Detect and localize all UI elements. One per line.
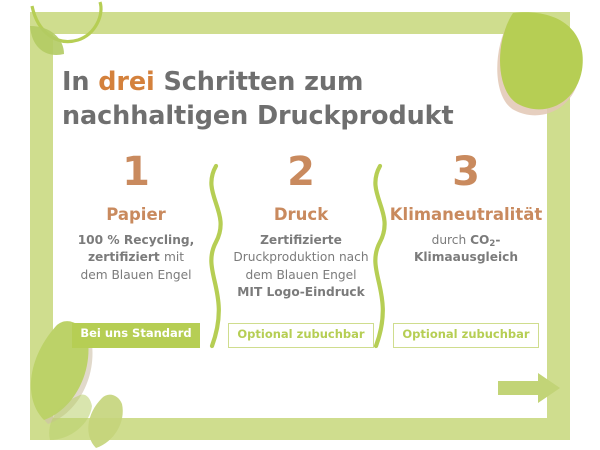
- frame-band-top: [30, 12, 570, 34]
- badge-slot-3: Optional zubuchbar: [386, 323, 546, 348]
- step-title-3: Klimaneutralität: [386, 206, 546, 225]
- step-body-segment: -: [495, 233, 500, 247]
- step-body-line: Klimaausgleich: [386, 249, 546, 266]
- step-body-segment: Klimaausgleich: [414, 250, 518, 264]
- heading-line2: nachhaltigen Druckprodukt: [62, 101, 454, 131]
- step-body-segment: 2: [489, 239, 495, 249]
- page-title: In drei Schritten zum nachhaltigen Druck…: [62, 66, 482, 133]
- step-body-segment: MIT Logo-Eindruck: [237, 285, 364, 299]
- badge-step-3[interactable]: Optional zubuchbar: [393, 323, 538, 348]
- infographic-root: In drei Schritten zum nachhaltigen Druck…: [0, 0, 600, 450]
- step-body-1: 100 % Recycling,zertifiziert mitdem Blau…: [56, 232, 216, 284]
- step-body-segment: durch: [432, 233, 471, 247]
- heading-line1-pre: In: [62, 67, 98, 97]
- step-body-2: ZertifizierteDruckproduktion nachdem Bla…: [221, 232, 381, 301]
- step-column-3: 3 Klimaneutralität durch CO2-Klimaausgle…: [386, 152, 546, 267]
- badge-slot-1: Bei uns Standard: [56, 323, 216, 348]
- heading-line1-post: Schritten zum: [155, 67, 364, 97]
- step-body-segment: 100 % Recycling,: [78, 233, 195, 247]
- step-body-segment: CO: [470, 233, 489, 247]
- step-body-segment: Zertifizierte: [260, 233, 342, 247]
- badge-step-2[interactable]: Optional zubuchbar: [228, 323, 373, 348]
- step-title-1: Papier: [56, 206, 216, 225]
- step-title-2: Druck: [221, 206, 381, 225]
- step-body-3: durch CO2-Klimaausgleich: [386, 232, 546, 267]
- step-number-1: 1: [56, 152, 216, 198]
- step-body-line: Zertifizierte: [221, 232, 381, 249]
- step-column-2: 2 Druck ZertifizierteDruckproduktion nac…: [221, 152, 381, 301]
- step-body-line: Druckproduktion nach: [221, 249, 381, 266]
- badges-container: Bei uns Standard Optional zubuchbar Opti…: [56, 323, 546, 348]
- frame-band-left: [30, 12, 53, 440]
- step-body-line: dem Blauen Engel: [56, 267, 216, 284]
- step-body-line: 100 % Recycling,: [56, 232, 216, 249]
- frame-band-right: [547, 12, 570, 440]
- step-column-1: 1 Papier 100 % Recycling,zertifiziert mi…: [56, 152, 216, 284]
- step-body-line: MIT Logo-Eindruck: [221, 284, 381, 301]
- step-body-line: durch CO2-: [386, 232, 546, 249]
- frame-band-bottom: [30, 418, 570, 440]
- heading-accent-word: drei: [98, 67, 154, 97]
- step-body-segment: zertifiziert: [88, 250, 164, 264]
- step-number-3: 3: [386, 152, 546, 198]
- step-body-segment: dem Blauen Engel: [80, 268, 191, 282]
- badge-step-1[interactable]: Bei uns Standard: [72, 323, 199, 348]
- step-body-segment: Druckproduktion nach: [233, 250, 368, 264]
- step-body-segment: mit: [164, 250, 184, 264]
- step-body-line: zertifiziert mit: [56, 249, 216, 266]
- step-body-segment: dem Blauen Engel: [245, 268, 356, 282]
- step-body-line: dem Blauen Engel: [221, 267, 381, 284]
- badge-slot-2: Optional zubuchbar: [221, 323, 381, 348]
- step-number-2: 2: [221, 152, 381, 198]
